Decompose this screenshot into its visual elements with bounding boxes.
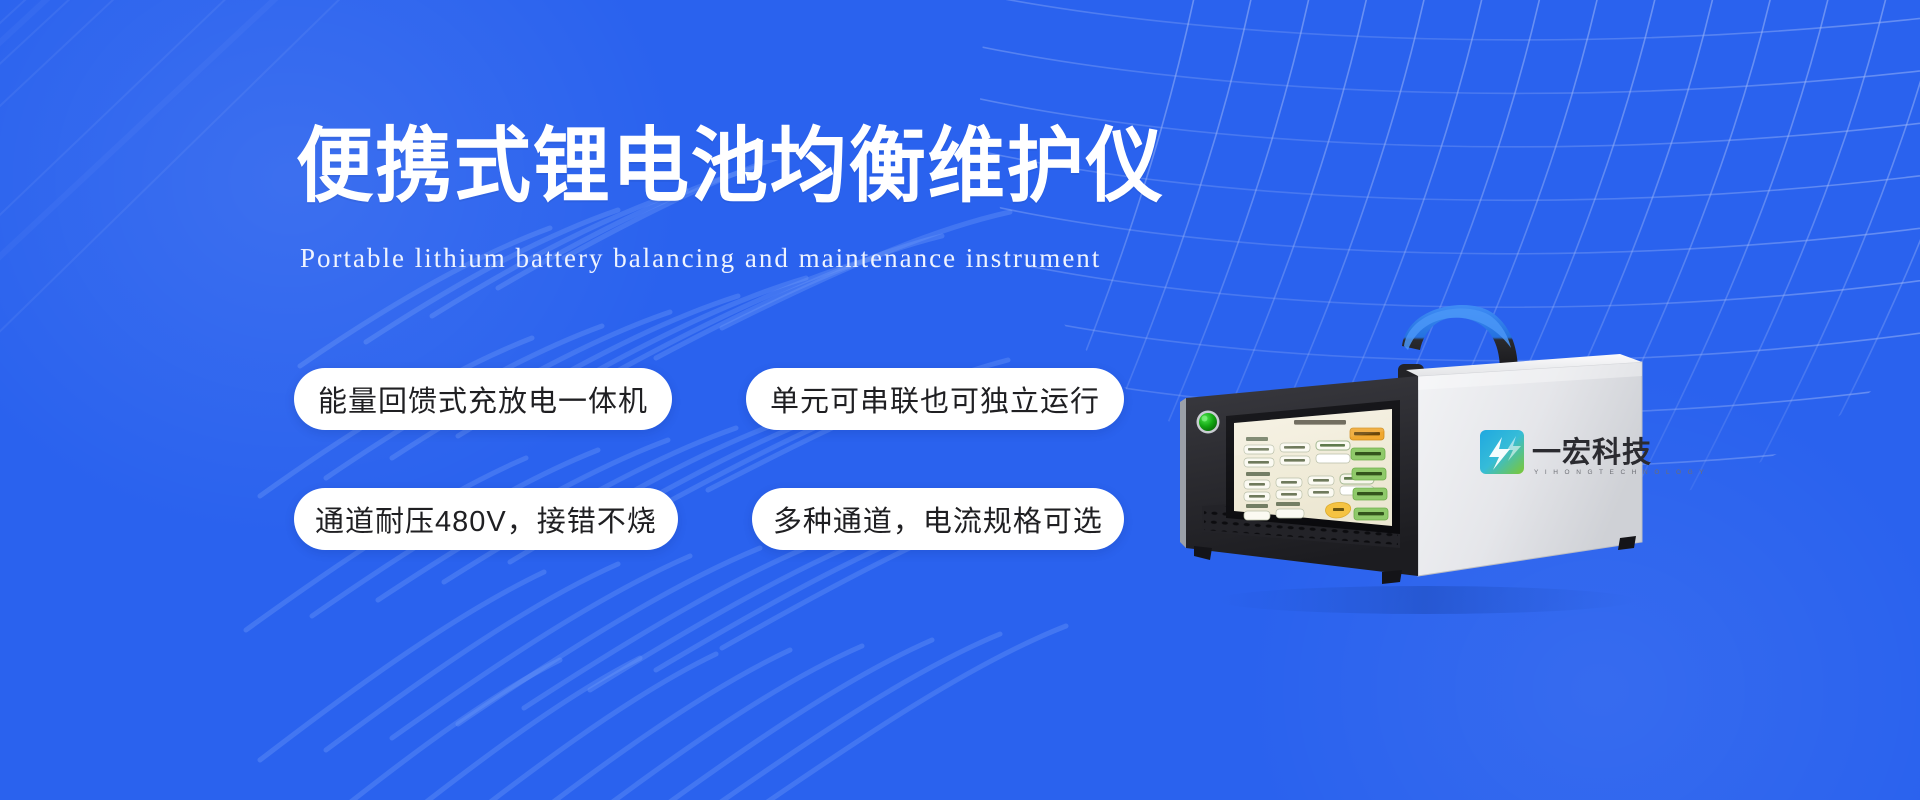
feature-pill-row-2: 通道耐压480V，接错不烧 多种通道，电流规格可选: [294, 488, 1124, 550]
feature-pill-channel-current-options[interactable]: 多种通道，电流规格可选: [752, 488, 1124, 550]
device-shadow: [1215, 586, 1635, 614]
page-subtitle: Portable lithium battery balancing and m…: [300, 245, 1101, 272]
banner-content: 便携式锂电池均衡维护仪 Portable lithium battery bal…: [0, 0, 1180, 800]
brand-logo-group: 一宏科技 Y I H O N G T E C H N O L O G Y: [1480, 430, 1706, 476]
feature-pill-energy-feedback[interactable]: 能量回馈式充放电一体机: [294, 368, 672, 430]
feature-pill-series-or-standalone[interactable]: 单元可串联也可独立运行: [746, 368, 1124, 430]
screen-section-label-3: [1246, 504, 1268, 508]
promo-banner: 便携式锂电池均衡维护仪 Portable lithium battery bal…: [0, 0, 1920, 800]
screen-section-label-4: [1276, 502, 1300, 506]
product-device-image: 一宏科技 Y I H O N G T E C H N O L O G Y: [1150, 280, 1680, 620]
power-button: [1197, 411, 1220, 434]
feature-pill-480v-withstand[interactable]: 通道耐压480V，接错不烧: [294, 488, 678, 550]
brand-name-cn: 一宏科技: [1532, 435, 1652, 469]
screen-section-label-2: [1246, 472, 1270, 476]
feature-pill-row-1: 能量回馈式充放电一体机 单元可串联也可独立运行: [294, 368, 1124, 430]
feature-pill-list: 能量回馈式充放电一体机 单元可串联也可独立运行 通道耐压480V，接错不烧 多种…: [294, 368, 1124, 608]
brand-name-pinyin: Y I H O N G T E C H N O L O G Y: [1534, 469, 1706, 476]
device-front-edge-left: [1180, 398, 1186, 548]
touch-screen: [1234, 409, 1392, 526]
page-title: 便携式锂电池均衡维护仪: [296, 126, 1165, 208]
